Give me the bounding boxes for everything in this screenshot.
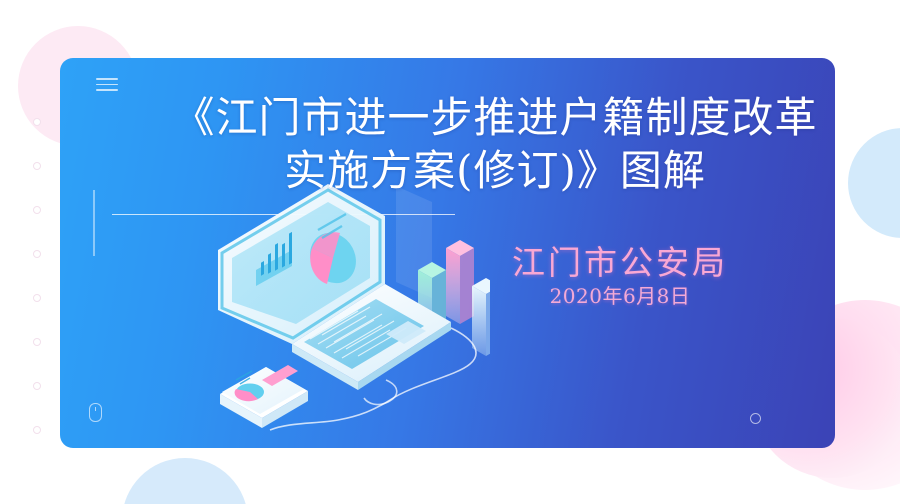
cable-loop	[364, 380, 397, 405]
presentation-date: 2020年6月8日	[430, 280, 810, 309]
organization-name: 江门市公安局	[430, 236, 810, 284]
document-stack	[220, 365, 308, 428]
decoration-dot	[33, 118, 41, 126]
decoration-dot	[33, 294, 41, 302]
decoration-circle-blue-right	[848, 128, 900, 238]
slide-canvas: 《江门市进一步推进户籍制度改革 实施方案(修订)》图解 江门市公安局 2020年…	[0, 0, 900, 504]
decoration-circle-blue-bottom	[122, 458, 248, 504]
title-line-2: 实施方案(修订)》图解	[165, 144, 825, 197]
decoration-dot	[33, 338, 41, 346]
page-title: 《江门市进一步推进户籍制度改革 实施方案(修订)》图解	[165, 91, 825, 197]
decoration-dot	[33, 382, 41, 390]
decoration-dot	[33, 162, 41, 170]
decoration-vertical-line	[93, 190, 95, 256]
circle-icon	[750, 413, 761, 424]
decoration-dot	[33, 206, 41, 214]
hamburger-icon[interactable]	[96, 78, 118, 95]
decoration-dot	[33, 250, 41, 258]
title-slide-card: 《江门市进一步推进户籍制度改革 实施方案(修订)》图解 江门市公安局 2020年…	[60, 58, 835, 448]
mouse-icon	[89, 403, 102, 422]
decoration-dot-column	[33, 118, 41, 470]
decoration-dot	[33, 426, 41, 434]
title-line-1: 《江门市进一步推进户籍制度改革	[172, 93, 817, 142]
